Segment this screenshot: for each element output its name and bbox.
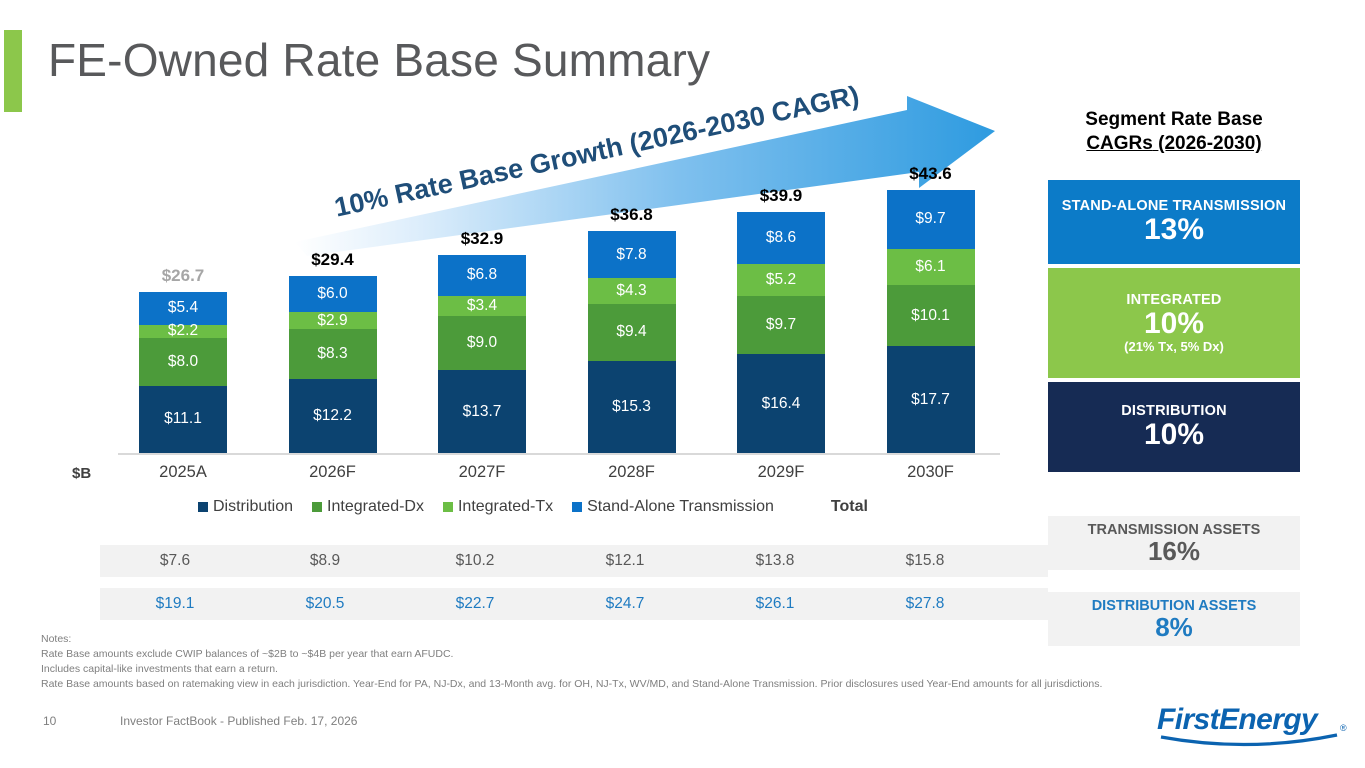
bar-segment-stand-alone-transmission: $8.6 — [737, 212, 825, 264]
notes-heading: Notes: — [41, 632, 1102, 647]
data-cell: $24.7 — [550, 595, 700, 613]
chart-legend: DistributionIntegrated-DxIntegrated-TxSt… — [198, 498, 868, 516]
x-axis-tick-2030F: 2030F — [887, 463, 975, 482]
data-cell: $10.2 — [400, 552, 550, 570]
bar-segment-integrated-dx: $9.7 — [737, 296, 825, 354]
notes-line-3: Rate Base amounts based on ratemaking vi… — [41, 677, 1102, 692]
panel-heading-period: (2026-2030) — [1158, 133, 1262, 154]
bar-segment-integrated-tx: $4.3 — [588, 278, 676, 304]
bar-segment-integrated-dx: $9.4 — [588, 304, 676, 361]
cagr-value: 13% — [1144, 214, 1204, 246]
x-axis-tick-2025A: 2025A — [139, 463, 227, 482]
logo-wordmark: FirstEnergy® — [1157, 703, 1342, 737]
notes-line-2: Includes capital-like investments that e… — [41, 662, 1102, 677]
bar-segment-stand-alone-transmission: $7.8 — [588, 231, 676, 278]
data-cell: $13.8 — [700, 552, 850, 570]
x-axis-tick-2027F: 2027F — [438, 463, 526, 482]
bar-2028F: $7.8$4.3$9.4$15.3 — [588, 231, 676, 453]
bar-segment-distribution: $17.7 — [887, 346, 975, 453]
bar-segment-distribution: $11.1 — [139, 386, 227, 453]
segment-cagr-heading: Segment Rate Base CAGRs (2026-2030) — [1048, 108, 1300, 157]
legend-swatch-icon — [572, 502, 582, 512]
bar-segment-stand-alone-transmission: $6.0 — [289, 276, 377, 312]
bar-segment-stand-alone-transmission: $6.8 — [438, 255, 526, 296]
bar-segment-stand-alone-transmission: $9.7 — [887, 190, 975, 248]
legend-label: Distribution — [213, 498, 293, 516]
data-cell: $15.8 — [850, 552, 1000, 570]
bar-segment-integrated-dx: $8.0 — [139, 338, 227, 386]
legend-label: Stand-Alone Transmission — [587, 498, 774, 516]
x-axis-tick-2026F: 2026F — [289, 463, 377, 482]
chart-baseline — [118, 453, 1000, 455]
data-cell: $26.1 — [700, 595, 850, 613]
bar-2027F: $6.8$3.4$9.0$13.7 — [438, 255, 526, 453]
legend-items: DistributionIntegrated-DxIntegrated-TxSt… — [198, 498, 774, 516]
data-cell: $7.6 — [100, 552, 250, 570]
x-axis-tick-2029F: 2029F — [737, 463, 825, 482]
data-cell: $8.9 — [250, 552, 400, 570]
transmission-assets-row: $7.6$8.9$10.2$12.1$13.8$15.8 — [100, 545, 1048, 577]
notes-block: Notes: Rate Base amounts exclude CWIP ba… — [41, 632, 1102, 692]
data-cell: $12.1 — [550, 552, 700, 570]
cagr-value: 10% — [1144, 419, 1204, 451]
data-cell: $19.1 — [100, 595, 250, 613]
x-axis-tick-2028F: 2028F — [588, 463, 676, 482]
cagr-box-integrated: INTEGRATED 10% (21% Tx, 5% Dx) — [1048, 268, 1300, 378]
bar-segment-integrated-dx: $8.3 — [289, 329, 377, 379]
bar-total-label: $43.6 — [887, 164, 975, 184]
cagr-value: 10% — [1144, 308, 1204, 340]
bar-segment-integrated-tx: $2.9 — [289, 312, 377, 329]
bar-total-label: $32.9 — [438, 229, 526, 249]
cagr-box-stand-alone-transmission: STAND-ALONE TRANSMISSION 13% — [1048, 180, 1300, 264]
asset-value: 16% — [1148, 538, 1200, 564]
panel-heading-cagrs: CAGRs — [1086, 133, 1153, 154]
legend-swatch-icon — [443, 502, 453, 512]
legend-item-distribution: Distribution — [198, 498, 293, 516]
legend-swatch-icon — [198, 502, 208, 512]
footer-page-number: 10 — [43, 714, 56, 728]
bar-segment-integrated-tx: $2.2 — [139, 325, 227, 338]
bar-total-label: $29.4 — [289, 250, 377, 270]
bar-segment-distribution: $15.3 — [588, 361, 676, 453]
bar-segment-stand-alone-transmission: $5.4 — [139, 292, 227, 325]
cagr-subvalue: (21% Tx, 5% Dx) — [1124, 339, 1224, 354]
bar-segment-integrated-tx: $6.1 — [887, 249, 975, 286]
bar-total-label: $39.9 — [737, 186, 825, 206]
cagr-label: STAND-ALONE TRANSMISSION — [1062, 198, 1286, 214]
bar-segment-distribution: $16.4 — [737, 354, 825, 453]
asset-value: 8% — [1155, 614, 1193, 640]
footer-caption: Investor FactBook - Published Feb. 17, 2… — [120, 714, 357, 728]
bar-segment-distribution: $13.7 — [438, 370, 526, 453]
bar-segment-integrated-dx: $10.1 — [887, 285, 975, 346]
y-axis-unit-label: $B — [72, 465, 91, 482]
asset-box-transmission: TRANSMISSION ASSETS 16% — [1048, 516, 1300, 570]
firstenergy-logo: FirstEnergy® — [1157, 703, 1342, 749]
bar-2025A: $5.4$2.2$8.0$11.1 — [139, 292, 227, 453]
data-cell: $20.5 — [250, 595, 400, 613]
bar-segment-integrated-tx: $3.4 — [438, 296, 526, 317]
legend-total-label: Total — [831, 498, 868, 516]
legend-label: Integrated-Dx — [327, 498, 424, 516]
bar-segment-distribution: $12.2 — [289, 379, 377, 453]
panel-heading-line1: Segment Rate Base — [1048, 108, 1300, 132]
legend-item-integrated-dx: Integrated-Dx — [312, 498, 424, 516]
bar-2026F: $6.0$2.9$8.3$12.2 — [289, 276, 377, 453]
bar-2029F: $8.6$5.2$9.7$16.4 — [737, 212, 825, 453]
legend-label: Integrated-Tx — [458, 498, 553, 516]
cagr-box-distribution: DISTRIBUTION 10% — [1048, 382, 1300, 472]
cagr-label: INTEGRATED — [1126, 292, 1221, 308]
logo-swoosh-icon — [1157, 733, 1342, 749]
bar-segment-integrated-dx: $9.0 — [438, 316, 526, 370]
stacked-bar-chart: $B $5.4$2.2$8.0$11.1$26.7$6.0$2.9$8.3$12… — [0, 0, 1020, 530]
legend-item-integrated-tx: Integrated-Tx — [443, 498, 553, 516]
distribution-assets-row: $19.1$20.5$22.7$24.7$26.1$27.8 — [100, 588, 1048, 620]
data-cell: $27.8 — [850, 595, 1000, 613]
bar-total-label: $36.8 — [588, 205, 676, 225]
legend-swatch-icon — [312, 502, 322, 512]
logo-registered-mark: ® — [1340, 723, 1346, 733]
bar-total-label: $26.7 — [139, 266, 227, 286]
legend-item-stand-alone-transmission: Stand-Alone Transmission — [572, 498, 774, 516]
logo-wordmark-text: FirstEnergy — [1157, 703, 1317, 736]
bar-segment-integrated-tx: $5.2 — [737, 264, 825, 295]
bar-2030F: $9.7$6.1$10.1$17.7 — [887, 190, 975, 453]
notes-line-1: Rate Base amounts exclude CWIP balances … — [41, 647, 1102, 662]
cagr-label: DISTRIBUTION — [1121, 403, 1227, 419]
data-cell: $22.7 — [400, 595, 550, 613]
